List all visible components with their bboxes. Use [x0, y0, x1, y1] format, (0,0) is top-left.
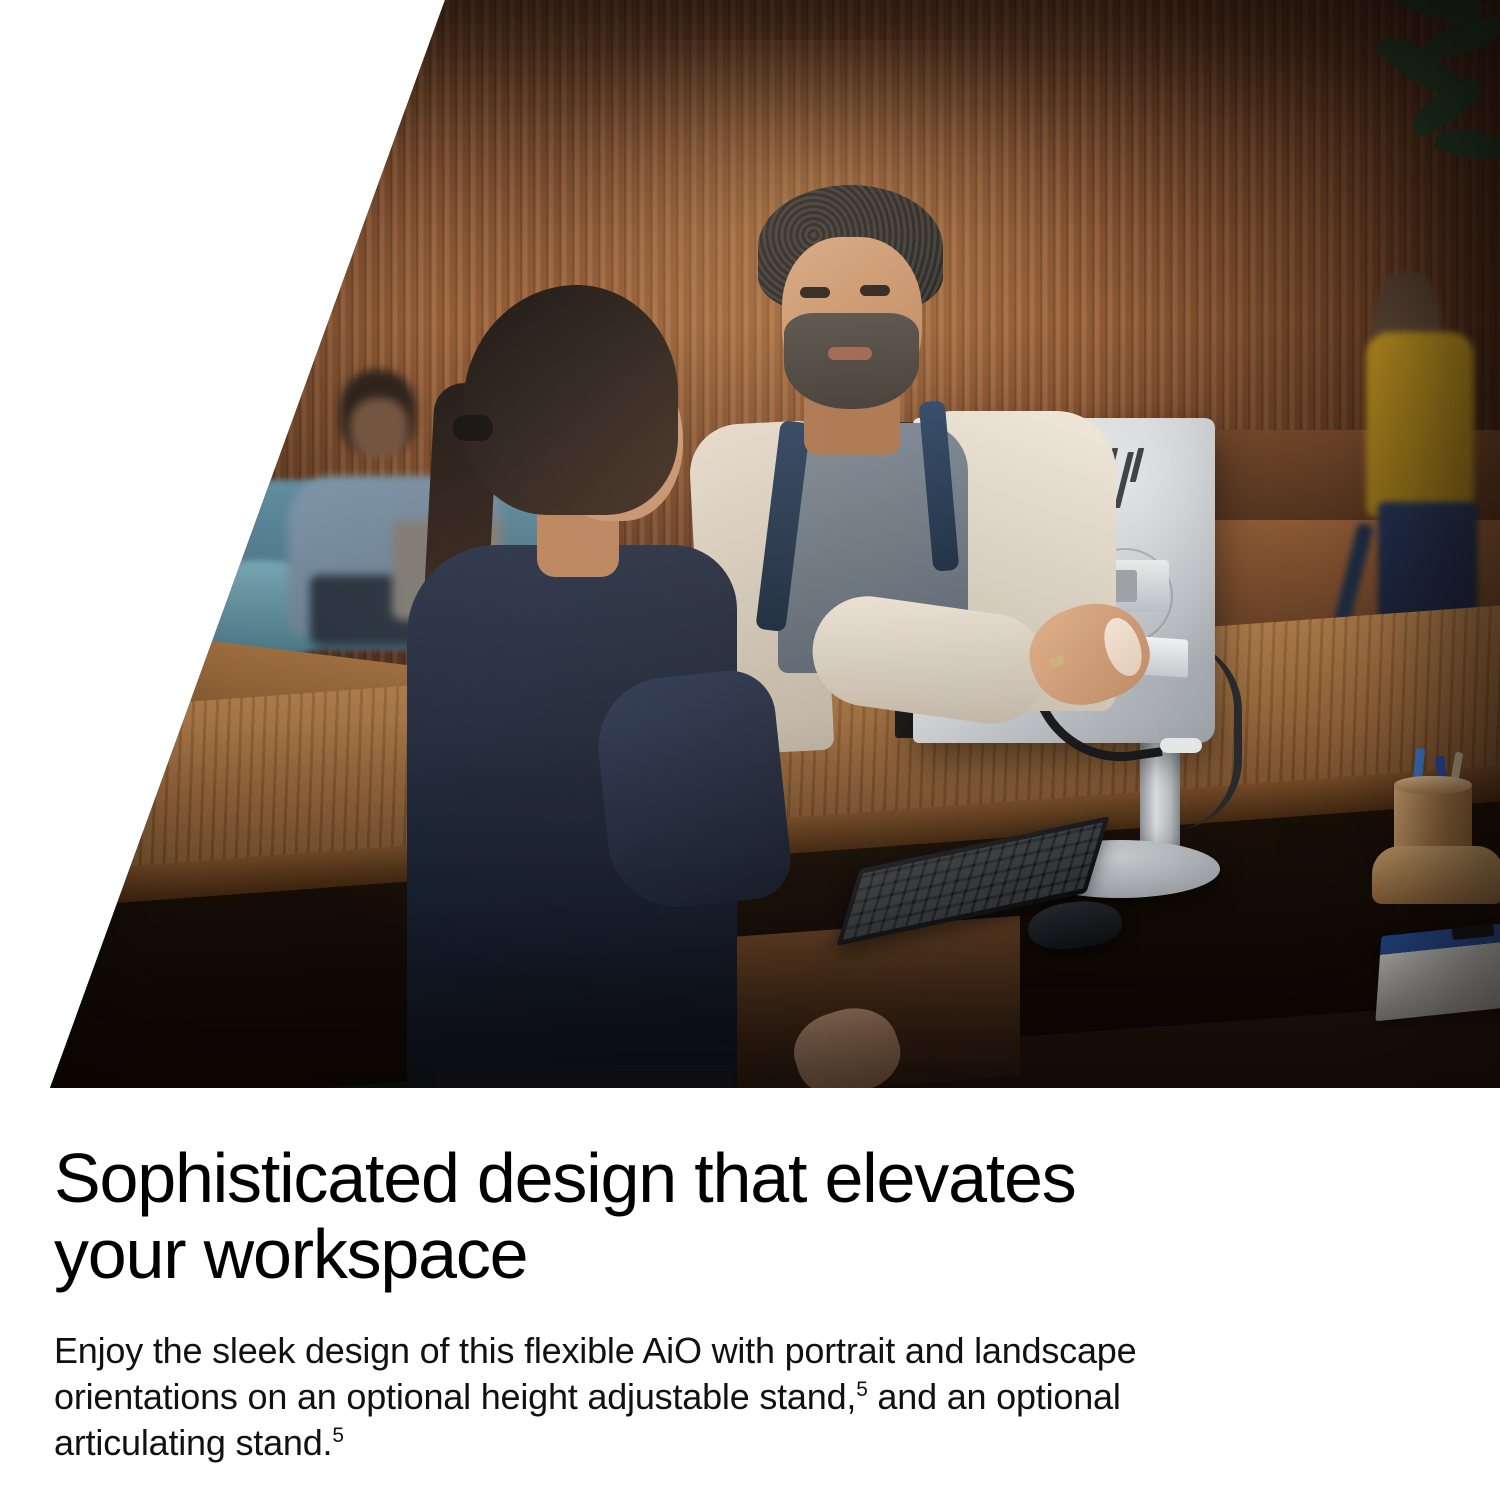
hair-tie [453, 415, 493, 441]
copy-block: Sophisticated design that elevates your … [54, 1140, 1374, 1466]
footnote-marker-2: 5 [332, 1424, 343, 1447]
potted-plant-icon [1356, 0, 1500, 180]
page-headline: Sophisticated design that elevates your … [54, 1140, 1374, 1292]
hero-photo [0, 0, 1500, 1088]
wooden-tray-right [1372, 846, 1500, 904]
foreground-woman [415, 265, 795, 1088]
footnote-marker-1: 5 [856, 1378, 867, 1401]
page-body-text: Enjoy the sleek design of this flexible … [54, 1328, 1294, 1466]
cable-clip [1160, 738, 1202, 753]
marketing-page: Sophisticated design that elevates your … [0, 0, 1500, 1500]
pen-cup-rim [1394, 776, 1472, 794]
office-scene [0, 0, 1500, 1088]
blue-clipboard [1375, 923, 1500, 1022]
